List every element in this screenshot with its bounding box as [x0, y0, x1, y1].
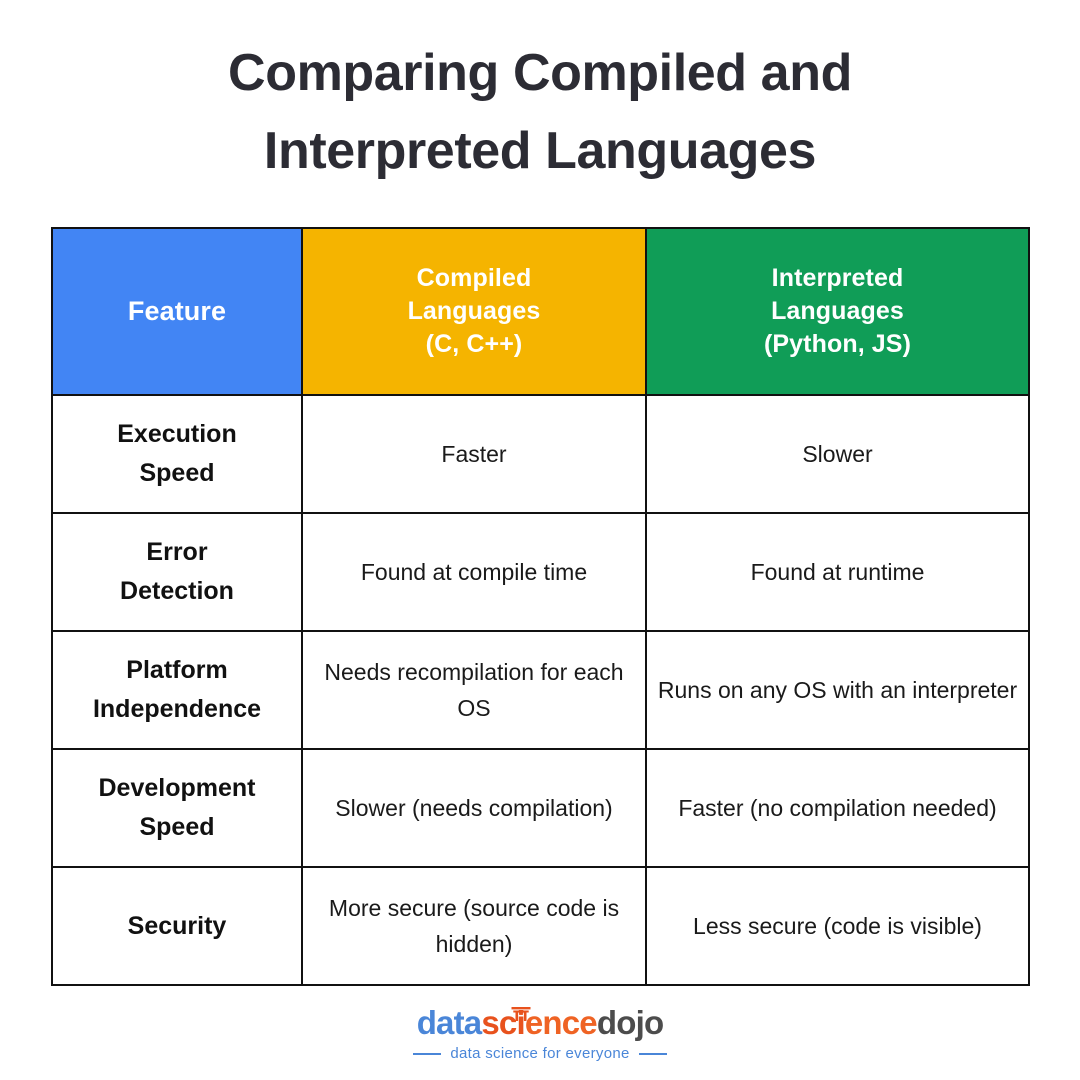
compiled-value-cell: Found at compile time — [302, 513, 646, 631]
tagline-dash-right-icon — [639, 1053, 667, 1055]
table-row: Error Detection Found at compile time Fo… — [52, 513, 1029, 631]
feature-cell: Execution Speed — [52, 395, 302, 513]
table-header-row: Feature Compiled Languages (C, C++) Inte… — [52, 228, 1029, 395]
column-header-interpreted-line-2: Languages — [657, 295, 1018, 328]
infographic-page: { "title": { "line1": "Comparing Compile… — [0, 0, 1080, 1080]
interpreted-value-cell: Runs on any OS with an interpreter — [646, 631, 1029, 749]
compiled-value-cell: Faster — [302, 395, 646, 513]
torii-gate-icon — [511, 993, 530, 1007]
feature-cell-line-2: Speed — [63, 808, 291, 847]
brand-part-i: i — [516, 1004, 524, 1041]
compiled-value-cell: More secure (source code is hidden) — [302, 867, 646, 985]
column-header-compiled: Compiled Languages (C, C++) — [302, 228, 646, 395]
feature-cell-line-2: Speed — [63, 454, 291, 493]
brand-part-ence: ence — [525, 1004, 597, 1041]
comparison-table: Feature Compiled Languages (C, C++) Inte… — [51, 227, 1030, 986]
brand-tagline: data science for everyone — [450, 1045, 629, 1062]
brand-logo[interactable]: datasciencedojo data science for everyon… — [0, 1006, 1080, 1062]
feature-cell-line-1: Error — [63, 533, 291, 572]
feature-cell: Development Speed — [52, 749, 302, 867]
interpreted-value-cell: Less secure (code is visible) — [646, 867, 1029, 985]
column-header-interpreted-line-1: Interpreted — [657, 262, 1018, 295]
interpreted-value-cell: Slower — [646, 395, 1029, 513]
feature-cell-line-1: Development — [63, 769, 291, 808]
table-body: Execution Speed Faster Slower Error Dete… — [52, 395, 1029, 985]
column-header-interpreted: Interpreted Languages (Python, JS) — [646, 228, 1029, 395]
feature-cell: Platform Independence — [52, 631, 302, 749]
interpreted-value-cell: Faster (no compilation needed) — [646, 749, 1029, 867]
feature-cell-line-2: Detection — [63, 572, 291, 611]
feature-cell-line-2: Independence — [63, 690, 291, 729]
column-header-compiled-line-1: Compiled — [313, 262, 635, 295]
brand-part-data: data — [417, 1004, 482, 1041]
page-title-line-2: Interpreted Languages — [0, 112, 1080, 190]
brand-part-dojo: dojo — [597, 1004, 663, 1041]
table-row: Execution Speed Faster Slower — [52, 395, 1029, 513]
table-row: Platform Independence Needs recompilatio… — [52, 631, 1029, 749]
brand-tagline-row: data science for everyone — [0, 1045, 1080, 1062]
feature-cell-line-1: Platform — [63, 651, 291, 690]
feature-cell: Security — [52, 867, 302, 985]
column-header-feature-line-1: Feature — [63, 295, 291, 328]
column-header-interpreted-line-3: (Python, JS) — [657, 328, 1018, 361]
tagline-dash-left-icon — [413, 1053, 441, 1055]
column-header-compiled-line-2: Languages — [313, 295, 635, 328]
table-row: Development Speed Slower (needs compilat… — [52, 749, 1029, 867]
page-title: Comparing Compiled and Interpreted Langu… — [0, 34, 1080, 190]
feature-cell-line-1: Security — [63, 907, 291, 946]
compiled-value-cell: Needs recompilation for each OS — [302, 631, 646, 749]
table-row: Security More secure (source code is hid… — [52, 867, 1029, 985]
interpreted-value-cell: Found at runtime — [646, 513, 1029, 631]
column-header-feature: Feature — [52, 228, 302, 395]
compiled-value-cell: Slower (needs compilation) — [302, 749, 646, 867]
column-header-compiled-line-3: (C, C++) — [313, 328, 635, 361]
table-header: Feature Compiled Languages (C, C++) Inte… — [52, 228, 1029, 395]
feature-cell-line-1: Execution — [63, 415, 291, 454]
brand-wordmark: datasciencedojo — [417, 1006, 664, 1040]
feature-cell: Error Detection — [52, 513, 302, 631]
comparison-table-container: Feature Compiled Languages (C, C++) Inte… — [51, 227, 1028, 986]
page-title-line-1: Comparing Compiled and — [0, 34, 1080, 112]
